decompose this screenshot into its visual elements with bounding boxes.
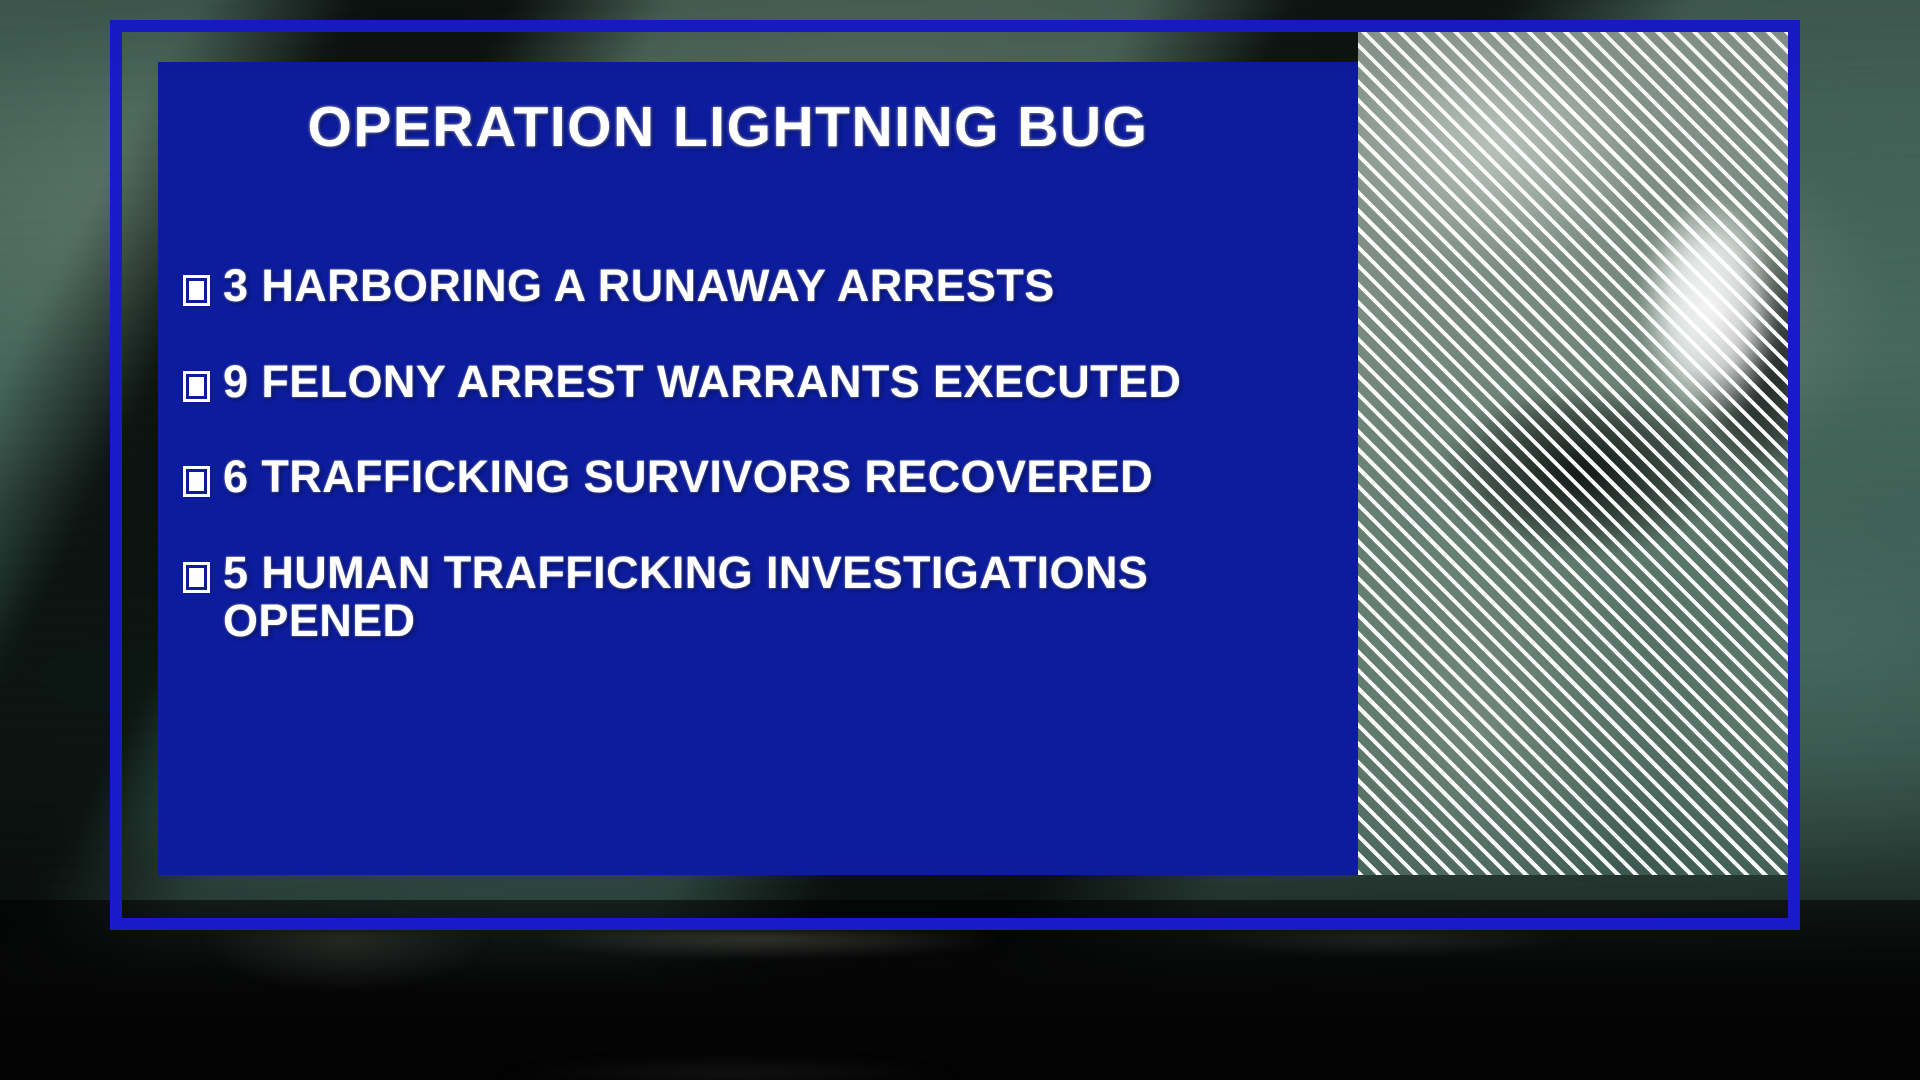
square-bullet-icon xyxy=(186,565,207,590)
square-bullet-icon xyxy=(186,278,207,303)
square-bullet-icon xyxy=(186,469,207,494)
list-item: 9 FELONY ARREST WARRANTS EXECUTED xyxy=(186,358,1334,407)
square-bullet-icon xyxy=(186,374,207,399)
broadcast-graphic-stage: OPERATION LIGHTNING BUG 3 HARBORING A RU… xyxy=(0,0,1920,1080)
statistic-label: 3 HARBORING A RUNAWAY ARRESTS xyxy=(223,262,1055,311)
list-item: 5 HUMAN TRAFFICKING INVESTIGATIONS OPENE… xyxy=(186,549,1334,646)
info-panel: OPERATION LIGHTNING BUG 3 HARBORING A RU… xyxy=(158,62,1358,875)
page-title: OPERATION LIGHTNING BUG xyxy=(158,98,1298,158)
statistic-label: 6 TRAFFICKING SURVIVORS RECOVERED xyxy=(223,453,1153,502)
statistics-list: 3 HARBORING A RUNAWAY ARRESTS 9 FELONY A… xyxy=(186,262,1334,646)
background-lower-shapes xyxy=(0,930,1920,1080)
list-item: 6 TRAFFICKING SURVIVORS RECOVERED xyxy=(186,453,1334,502)
statistic-label: 5 HUMAN TRAFFICKING INVESTIGATIONS OPENE… xyxy=(223,549,1263,646)
list-item: 3 HARBORING A RUNAWAY ARRESTS xyxy=(186,262,1334,311)
statistic-label: 9 FELONY ARREST WARRANTS EXECUTED xyxy=(223,358,1181,407)
